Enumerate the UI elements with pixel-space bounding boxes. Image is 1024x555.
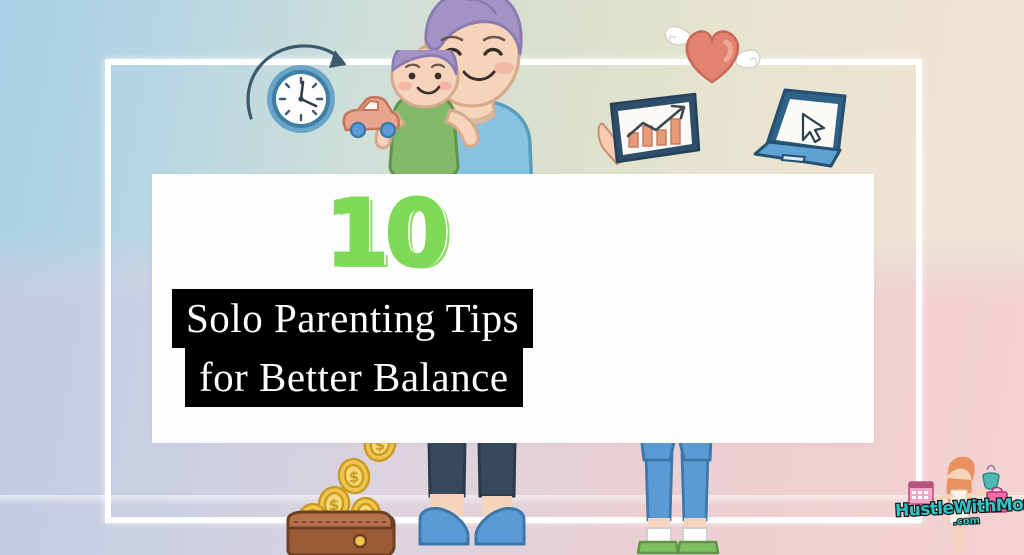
poster-canvas: $ $ $ $ $ 10 Solo Parenting Tips for Bet…	[0, 0, 1024, 555]
laptop-cursor-icon	[745, 82, 855, 177]
svg-text:$: $	[349, 468, 359, 486]
headline: Solo Parenting Tips for Better Balance	[172, 289, 642, 407]
tablet-chart-icon	[595, 78, 705, 178]
watermark-logo: HustleWithMom .com	[895, 452, 1024, 555]
wallet-coins-icon: $ $ $ $ $	[282, 428, 402, 555]
kicker-number-text: 10	[325, 188, 445, 280]
kicker-number: 10	[300, 188, 470, 280]
headline-line-2: for Better Balance	[185, 348, 523, 407]
watermark-tld-text: .com	[953, 515, 981, 527]
winged-heart-icon	[660, 12, 765, 87]
clock-icon	[243, 40, 348, 140]
toy-car-icon	[340, 96, 402, 141]
headline-line-1: Solo Parenting Tips	[172, 289, 533, 348]
